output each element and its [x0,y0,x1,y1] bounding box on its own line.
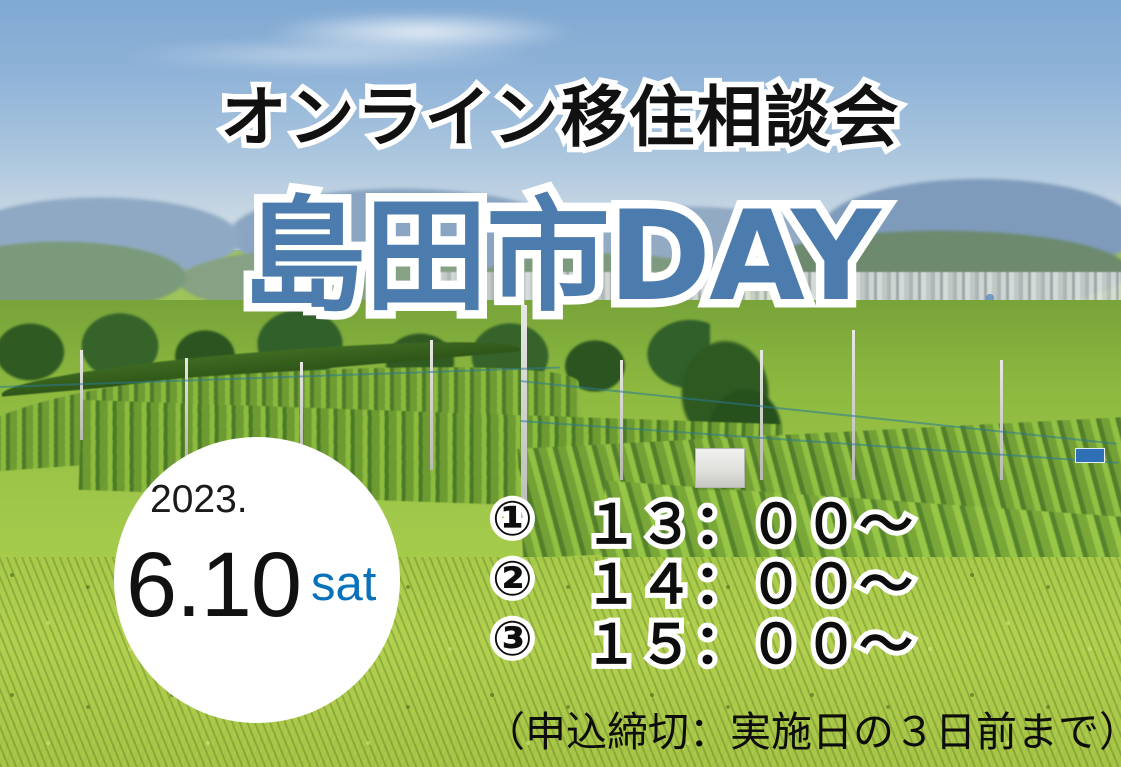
date-year: 2023. [150,478,248,522]
page-title: 島田市DAY [0,192,1121,322]
session-marker: ② [492,551,554,607]
utility-pole [1000,360,1003,480]
session-time: １５：００〜 [584,600,914,679]
utility-pole [620,360,623,480]
utility-pole [430,340,433,470]
power-wire [520,420,1119,464]
poster-canvas: オンライン移住相談会 島田市DAY 2023. 6.10 sat ① １３：００… [0,0,1121,767]
utility-pole [852,330,855,480]
session-marker: ① [492,491,554,547]
session-marker: ③ [492,611,554,667]
road-sign-icon [1075,448,1105,463]
utility-pole [760,350,763,480]
deadline-note: （申込締切：実施日の３日前まで） [484,698,1121,758]
date-weekday: sat [311,556,376,612]
kicker-text: オンライン移住相談会 [0,64,1121,160]
session-row: ③ １５：００〜 [492,609,914,669]
utility-pole [185,358,188,458]
session-time-list: ① １３：００〜 ② １４：００〜 ③ １５：００〜 [492,489,914,669]
date-day: 6.10 [126,533,301,638]
power-wire [520,380,1117,445]
utility-pole [80,350,83,440]
power-wire [0,366,560,388]
